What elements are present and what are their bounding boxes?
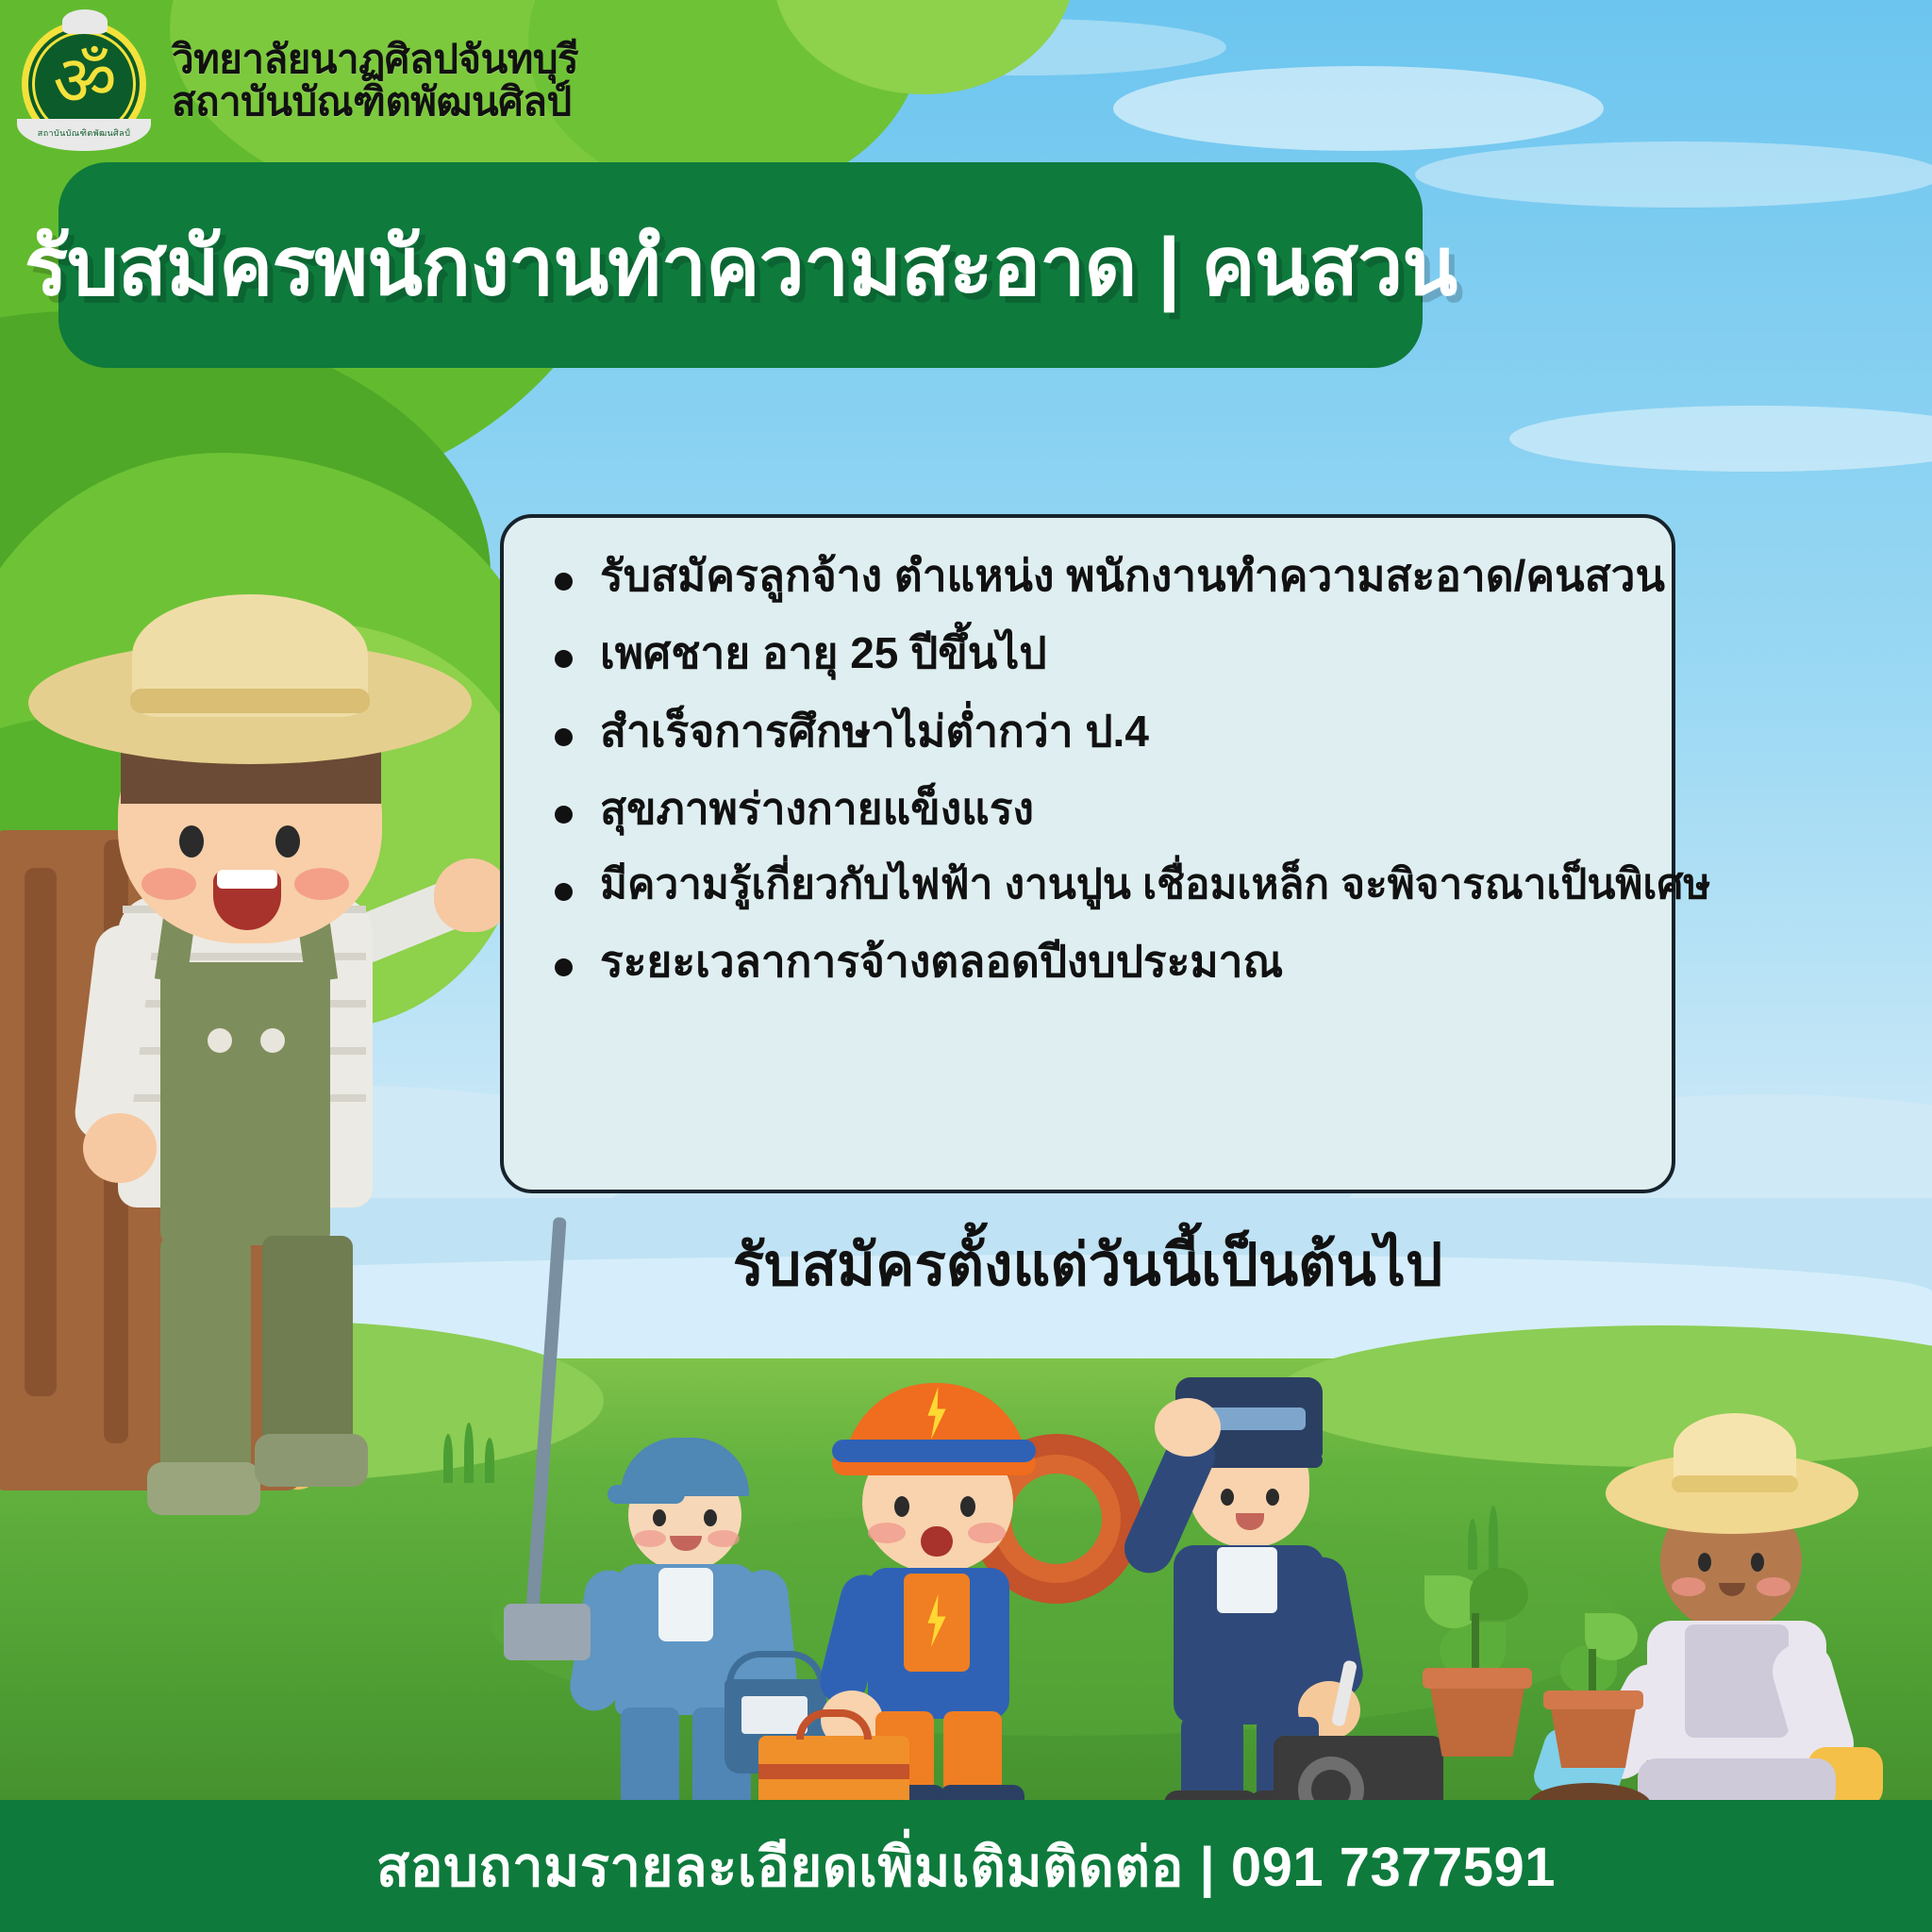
potted-plant — [1540, 1594, 1653, 1774]
cloud-shape — [1415, 142, 1932, 208]
cloud-shape — [1113, 66, 1604, 151]
requirements-list: รับสมัครลูกจ้าง ตำแหน่ง พนักงานทำความสะอ… — [541, 550, 1647, 987]
institution-logo: ॐ สถาบันบัณฑิตพัฒนศิลป์ — [13, 9, 155, 153]
requirements-card: รับสมัครลูกจ้าง ตำแหน่ง พนักงานทำความสะอ… — [500, 514, 1675, 1193]
poster-title: รับสมัครพนักงานทำความสะอาด | คนสวน — [25, 201, 1457, 330]
list-item: สุขภาพร่างกายแข็งแรง — [541, 783, 1647, 834]
farmer-character — [28, 585, 519, 1547]
contact-text: สอบถามรายละเอียดเพิ่มเติมติดต่อ | 091 73… — [376, 1823, 1556, 1910]
footer-contact-bar: สอบถามรายละเอียดเพิ่มเติมติดต่อ | 091 73… — [0, 1800, 1932, 1932]
poster-root: ॐ สถาบันบัณฑิตพัฒนศิลป์ วิทยาลัยนาฏศิลปจ… — [0, 0, 1932, 1932]
apply-now-subheading: รับสมัครตั้งแต่วันนี้เป็นต้นไป — [500, 1219, 1675, 1311]
list-item: รับสมัครลูกจ้าง ตำแหน่ง พนักงานทำความสะอ… — [541, 550, 1647, 601]
logo-crest-icon — [62, 9, 108, 34]
ganesha-icon: ॐ — [47, 38, 123, 125]
list-item: สำเร็จการศึกษาไม่ต่ำกว่า ป.4 — [541, 706, 1647, 757]
title-banner: รับสมัครพนักงานทำความสะอาด | คนสวน — [58, 162, 1423, 368]
logo-banner: สถาบันบัณฑิตพัฒนศิลป์ — [17, 119, 151, 151]
welder-character — [1123, 1321, 1368, 1811]
list-item: เพศชาย อายุ 25 ปีขึ้นไป — [541, 627, 1647, 678]
header: ॐ สถาบันบัณฑิตพัฒนศิลป์ วิทยาลัยนาฏศิลปจ… — [0, 0, 943, 160]
org-line-2: สถาบันบัณฑิตพัฒนศิลป์ — [172, 80, 578, 123]
organization-name: วิทยาลัยนาฏศิลปจันทบุรี สถาบันบัณฑิตพัฒน… — [172, 38, 578, 124]
potted-plant — [1415, 1547, 1538, 1764]
broom-head — [504, 1604, 591, 1660]
logo-banner-text: สถาบันบัณฑิตพัฒนศิลป์ — [17, 119, 151, 147]
list-item: ระยะเวลาการจ้างตลอดปีงบประมาณ — [541, 936, 1647, 987]
org-line-1: วิทยาลัยนาฏศิลปจันทบุรี — [172, 38, 578, 80]
list-item: มีความรู้เกี่ยวกับไฟฟ้า งานปูน เชื่อมเหล… — [541, 860, 1647, 909]
electrician-character — [802, 1321, 1085, 1811]
